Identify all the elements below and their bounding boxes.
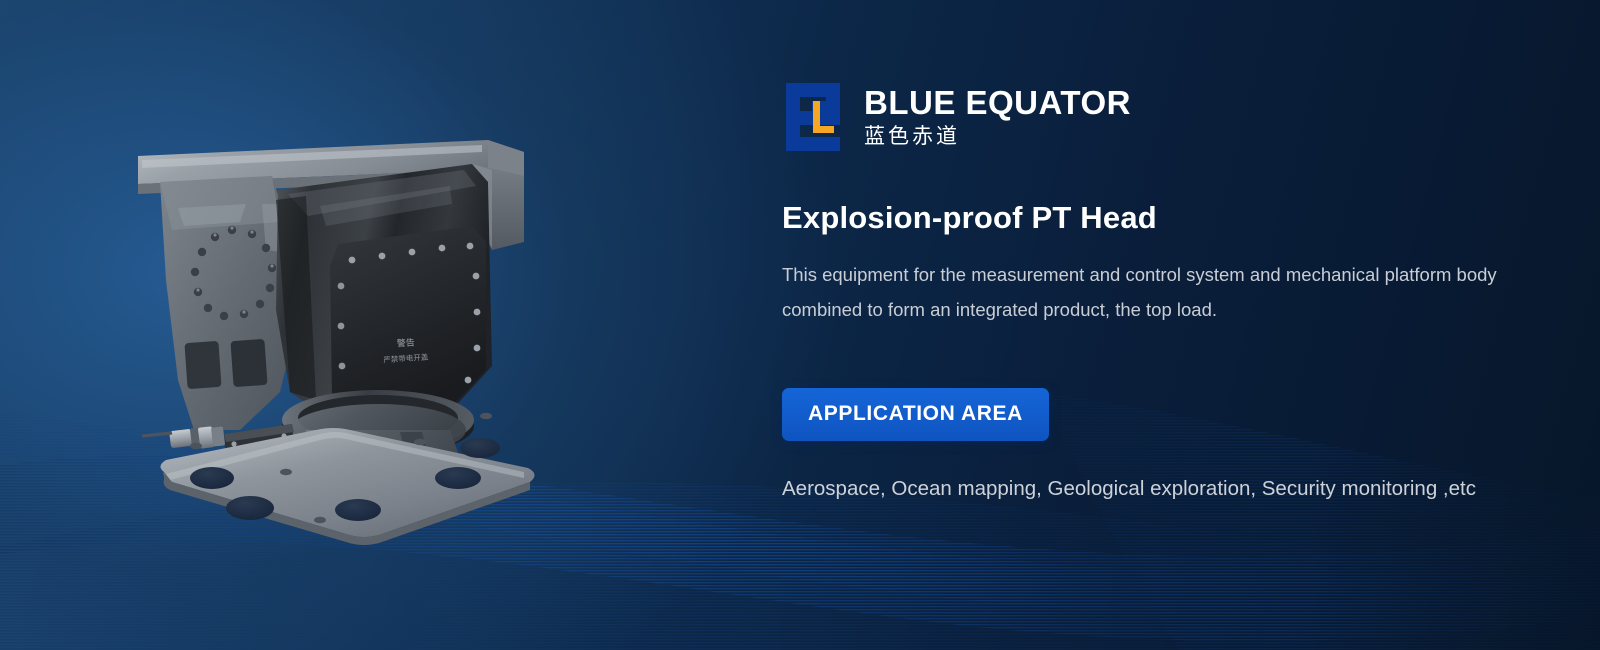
brand-name-cn: 蓝色赤道 xyxy=(864,124,1131,149)
blue-equator-logo-icon xyxy=(782,81,844,153)
product-image: 警告 严禁带电开盖 xyxy=(120,130,580,560)
brand-name-en: BLUE EQUATOR xyxy=(864,85,1131,121)
base-hole xyxy=(335,499,381,521)
base-hole xyxy=(435,467,481,489)
base-hole xyxy=(226,496,274,520)
pan-tilt-head-illustration: 警告 严禁带电开盖 xyxy=(120,130,580,560)
product-banner: 警告 严禁带电开盖 xyxy=(0,0,1600,650)
brand-lockup: BLUE EQUATOR 蓝色赤道 xyxy=(782,78,1542,156)
page-title: Explosion-proof PT Head xyxy=(782,200,1542,236)
banner-content: BLUE EQUATOR 蓝色赤道 Explosion-proof PT Hea… xyxy=(782,78,1542,530)
brand-text: BLUE EQUATOR 蓝色赤道 xyxy=(864,85,1131,149)
product-description: This equipment for the measurement and c… xyxy=(782,257,1522,327)
application-area-button[interactable]: APPLICATION AREA xyxy=(782,388,1049,441)
cable-gland-connector xyxy=(142,426,225,449)
base-hole xyxy=(190,467,234,489)
yoke-bracket xyxy=(160,176,296,430)
base-hole xyxy=(460,438,500,458)
application-areas-text: Aerospace, Ocean mapping, Geological exp… xyxy=(782,468,1502,509)
access-cover-plate: 警告 严禁带电开盖 xyxy=(330,226,486,418)
